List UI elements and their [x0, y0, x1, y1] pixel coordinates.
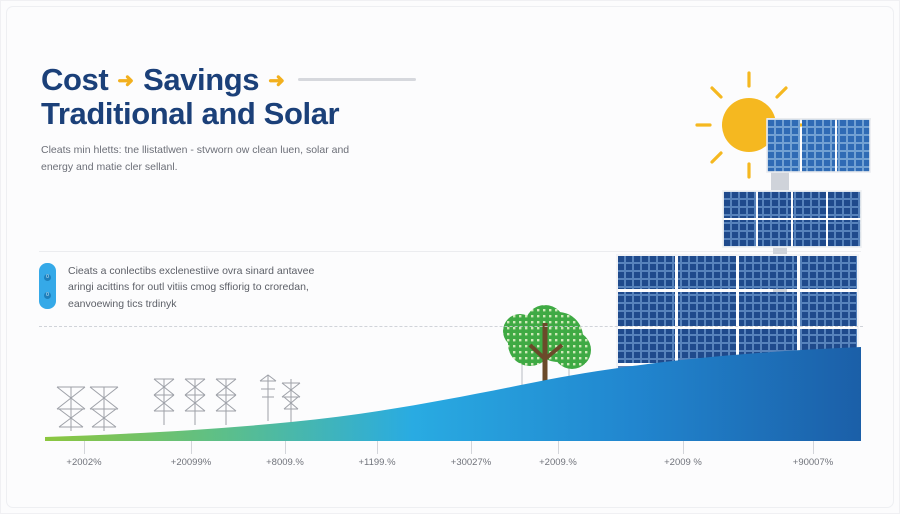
- axis-label-1: +20099%: [171, 457, 211, 468]
- chart-plot-area: +2002% +20099% +8009.% +1199.% +30027% +…: [1, 291, 900, 514]
- header-description: Cleats min hletts: tne llistatlwen - stv…: [41, 142, 371, 176]
- axis-tick: [813, 441, 814, 454]
- axis-tick: [285, 441, 286, 454]
- axis-label-6: +2009 %: [664, 457, 702, 468]
- header: Cost ➜ Savings ➜ Traditional and Solar C…: [41, 63, 661, 176]
- page-title-part-1: Cost: [41, 63, 108, 96]
- axis-tick: [191, 441, 192, 454]
- solar-panel-small: [767, 118, 871, 206]
- axis-tick: [471, 441, 472, 454]
- arrow-right-icon-2: ➜: [268, 71, 285, 91]
- page-title-part-2: Savings: [143, 63, 259, 96]
- axis-label-2: +8009.%: [266, 457, 304, 468]
- chart-area-series: [1, 291, 900, 514]
- axis-tick: [683, 441, 684, 454]
- title-rule-decoration: [298, 78, 416, 81]
- axis-label-4: +30027%: [451, 457, 491, 468]
- sun-icon: [697, 73, 801, 177]
- solar-panel-medium: [723, 191, 861, 299]
- badge-dot-top: 0: [44, 274, 51, 281]
- infographic-canvas: Cost ➜ Savings ➜ Traditional and Solar C…: [0, 0, 900, 514]
- page-title-line-2: Traditional and Solar: [41, 97, 661, 130]
- section-divider: [39, 251, 861, 252]
- page-subtitle-heading: Traditional and Solar: [41, 97, 339, 130]
- chart-axis-labels: +2002% +20099% +8009.% +1199.% +30027% +…: [1, 457, 900, 477]
- axis-label-0: +2002%: [66, 457, 101, 468]
- area-curve-path: [45, 347, 861, 441]
- axis-label-5: +2009.%: [539, 457, 577, 468]
- axis-label-7: +90007%: [793, 457, 833, 468]
- axis-label-3: +1199.%: [358, 457, 395, 468]
- page-title-line-1: Cost ➜ Savings ➜: [41, 63, 661, 96]
- axis-tick: [84, 441, 85, 454]
- axis-tick: [377, 441, 378, 454]
- axis-tick: [558, 441, 559, 454]
- arrow-right-icon-1: ➜: [117, 71, 134, 91]
- chart-axis-ticks: [1, 441, 900, 455]
